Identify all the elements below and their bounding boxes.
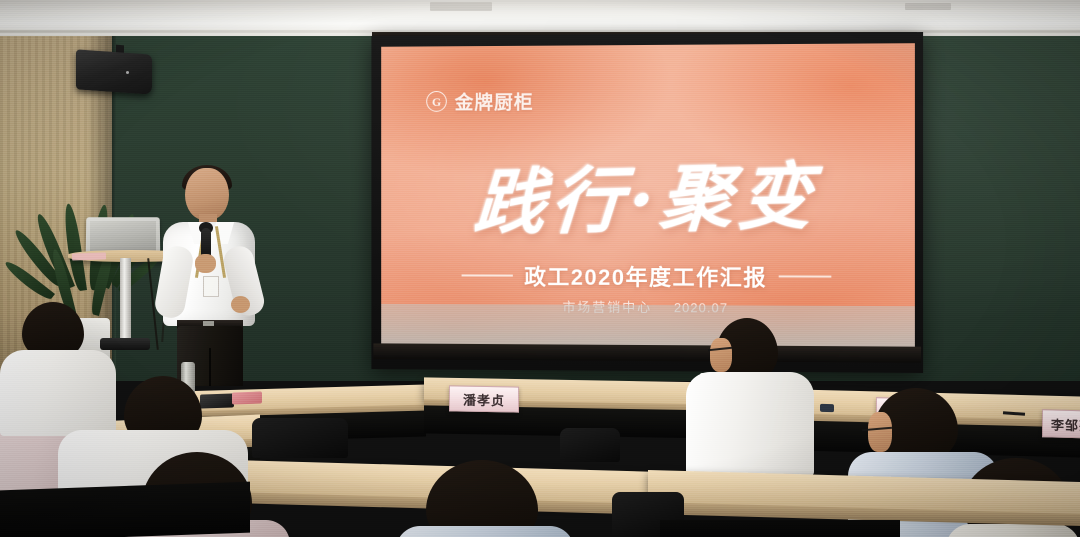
screen-lower-band [381,304,915,347]
ceiling-vent-icon [430,2,492,11]
chair [252,418,348,458]
ceiling-vent-icon [905,3,951,10]
slide-headline: 践行·聚变 [381,135,915,251]
trouser-seam [209,348,211,386]
laptop-screen [90,221,156,251]
speaker-led-icon [126,71,129,74]
slide-subtitle-row: 政工2020年度工作汇报 [381,259,915,293]
presenter-right-hand [231,296,250,313]
nameplate-label: 李邹銮 [1051,414,1080,434]
podium-base [100,338,150,350]
presenter-left-hand [195,254,216,273]
subtitle-rule-right [779,275,832,277]
podium-papers [72,252,106,260]
badge-card [203,276,219,297]
under-table-shadow [0,482,250,537]
attendee-torso [686,372,814,476]
podium-column [120,258,131,344]
nameplate: 李邹銮 [1042,409,1080,438]
nameplate-label: 潘孝贞 [463,389,505,409]
presenter [155,168,265,383]
conference-room-photo: G 金牌厨柜 践行·聚变 政工2020年度工作汇报 市场营销中心 2020.07 [0,0,1080,537]
wall-speaker-icon [76,49,152,94]
projection-screen-frame: G 金牌厨柜 践行·聚变 政工2020年度工作汇报 市场营销中心 2020.07 [371,32,923,373]
slide-brand-logo: G 金牌厨柜 [426,88,533,115]
slide-subtitle: 政工2020年度工作汇报 [524,260,767,293]
screen-bottom-rail [373,343,921,363]
subtitle-rule-left [461,274,512,276]
attendee-torso [946,524,1080,537]
under-table-shadow [660,520,900,537]
projected-slide: G 金牌厨柜 践行·聚变 政工2020年度工作汇报 市场营销中心 2020.07 [381,43,915,346]
presenter-head [185,168,229,220]
attendee-torso [396,526,574,537]
nameplate: 潘孝贞 [449,385,519,412]
attendee-torso [0,350,116,436]
circle-g-logo-icon: G [426,91,447,112]
attendee-face [868,412,892,452]
red-folder [232,391,262,404]
notebook [200,393,234,408]
brand-name: 金牌厨柜 [455,88,534,115]
attendee-face [710,338,732,372]
mobile-phone [820,404,834,412]
chair [560,428,620,462]
